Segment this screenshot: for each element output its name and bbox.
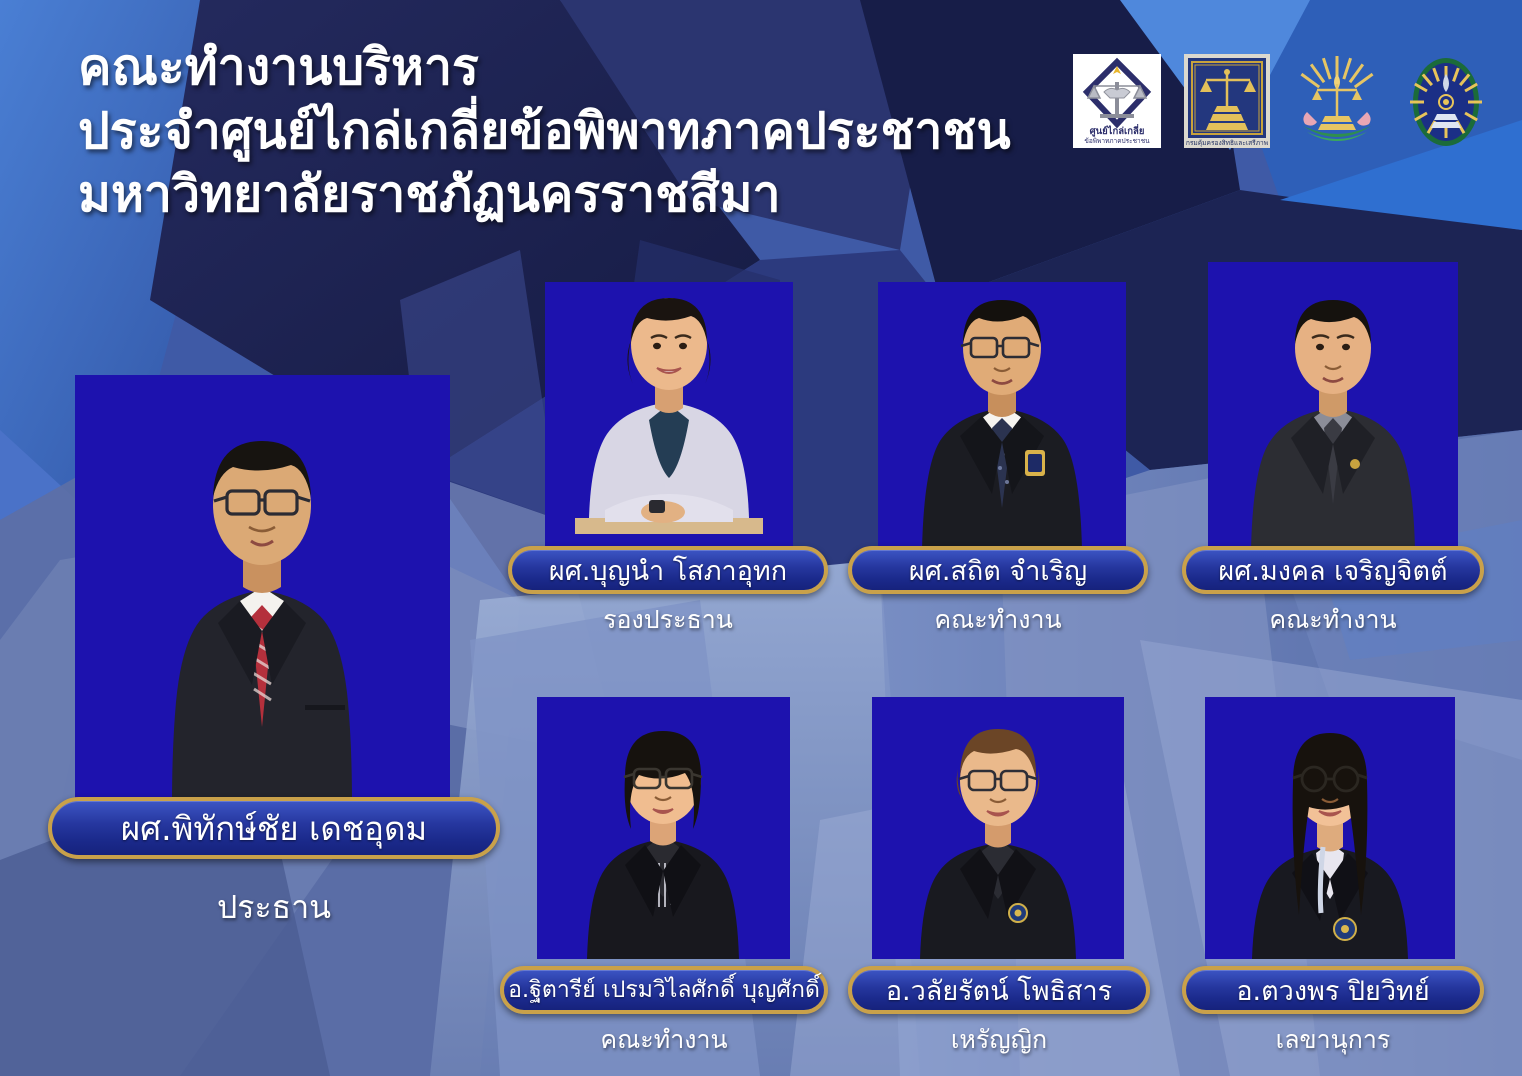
photo-panel-vice-chair (545, 282, 793, 550)
member-role-thitaree: คณะทำงาน (500, 1020, 828, 1060)
logo-royal-emblem (1290, 52, 1385, 152)
member-name-mongkol: ผศ.มงคล เจริญจิตต์ (1218, 549, 1447, 592)
member-role-vice-chair: รองประธาน (508, 600, 828, 640)
member-name-treasurer: อ.วลัยรัตน์ โพธิสาร (886, 969, 1112, 1012)
photo-panel-mongkol (1208, 262, 1458, 550)
name-badge-mongkol: ผศ.มงคล เจริญจิตต์ (1182, 546, 1484, 594)
member-name-sathit: ผศ.สถิต จำเริญ (909, 549, 1087, 592)
portrait-secretary (1205, 697, 1455, 959)
photo-panel-thitaree (537, 697, 790, 959)
logo-nakhon-ratchasima-rajabhat-university (1399, 52, 1494, 152)
name-badge-treasurer: อ.วลัยรัตน์ โพธิสาร (848, 966, 1150, 1014)
logo-mediation-center: ศูนย์ไกล่เกลี่ย ข้อพิพาทภาคประชาชน (1072, 52, 1167, 152)
logo2-line1: กรมคุ้มครองสิทธิและเสรีภาพ (1186, 139, 1268, 147)
member-name-vice-chair: ผศ.บุญนำ โสภาอุทก (549, 549, 787, 592)
portrait-thitaree (537, 697, 790, 959)
photo-panel-chairman (75, 375, 450, 805)
poster-canvas: คณะทำงานบริหาร ประจำศูนย์ไกล่เกลี่ยข้อพิ… (0, 0, 1522, 1076)
photo-panel-treasurer (872, 697, 1124, 959)
portrait-sathit (878, 282, 1126, 550)
name-badge-secretary: อ.ตวงพร ปิยวิทย์ (1182, 966, 1484, 1014)
member-name-thitaree: อ.ฐิตารีย์ เปรมวิไลศักดิ์ บุญศักดิ์ (508, 972, 820, 1008)
logo-rights-liberties-protection-department: กรมคุ้มครองสิทธิและเสรีภาพ (1181, 52, 1276, 152)
portrait-treasurer (872, 697, 1124, 959)
name-badge-vice-chair: ผศ.บุญนำ โสภาอุทก (508, 546, 828, 594)
portrait-chairman (75, 375, 450, 805)
logo-row: ศูนย์ไกล่เกลี่ย ข้อพิพาทภาคประชาชน กรมคุ… (1072, 52, 1494, 152)
name-badge-thitaree: อ.ฐิตารีย์ เปรมวิไลศักดิ์ บุญศักดิ์ (500, 966, 828, 1014)
member-role-secretary: เลขานุการ (1182, 1020, 1484, 1060)
portrait-vice-chair (545, 282, 793, 550)
name-badge-chairman: ผศ.พิทักษ์ชัย เดชอุดม (48, 797, 500, 859)
member-role-mongkol: คณะทำงาน (1182, 600, 1484, 640)
name-badge-sathit: ผศ.สถิต จำเริญ (848, 546, 1148, 594)
member-role-sathit: คณะทำงาน (848, 600, 1148, 640)
logo1-line2: ข้อพิพาทภาคประชาชน (1084, 137, 1150, 145)
portrait-mongkol (1208, 262, 1458, 550)
logo1-line1: ศูนย์ไกล่เกลี่ย (1090, 123, 1145, 138)
poster-title: คณะทำงานบริหาร ประจำศูนย์ไกล่เกลี่ยข้อพิ… (78, 36, 1088, 227)
photo-panel-secretary (1205, 697, 1455, 959)
member-name-secretary: อ.ตวงพร ปิยวิทย์ (1236, 969, 1429, 1012)
member-name-chairman: ผศ.พิทักษ์ชัย เดชอุดม (121, 802, 427, 855)
photo-panel-sathit (878, 282, 1126, 550)
member-role-treasurer: เหรัญญิก (848, 1020, 1150, 1060)
member-role-chairman: ประธาน (48, 882, 500, 933)
